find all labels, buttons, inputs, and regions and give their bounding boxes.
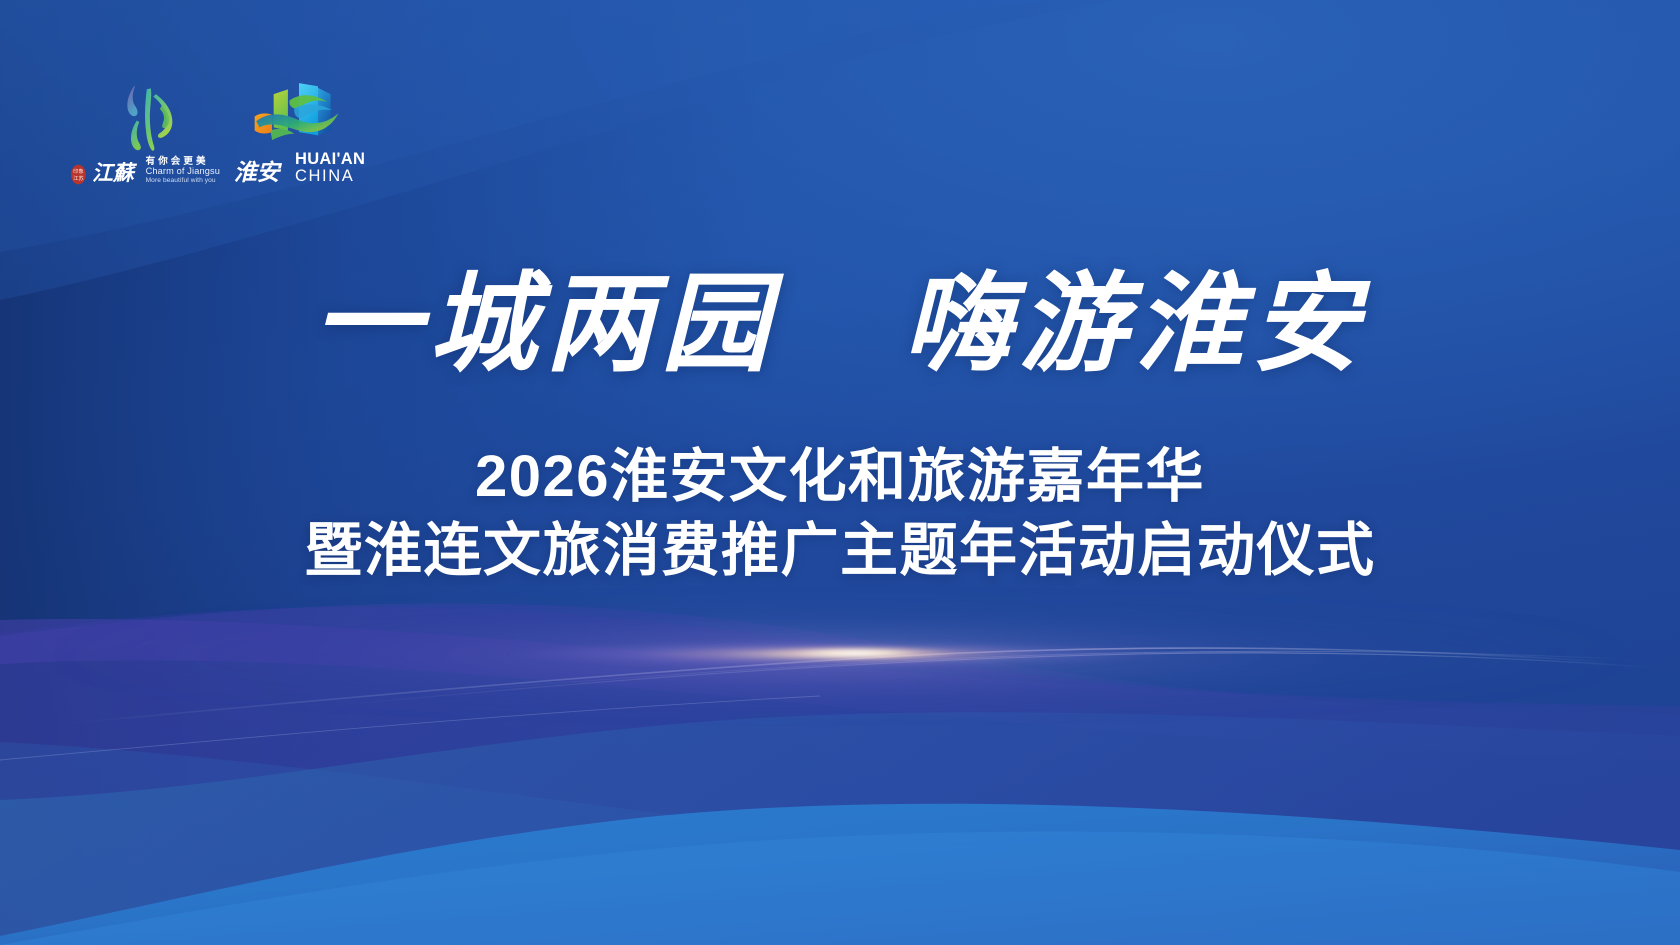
huaian-en-top: HUAI'AN [295, 151, 365, 168]
jiangsu-tagline-en: Charm of Jiangsu [146, 167, 220, 177]
jiangsu-water-mark-icon [104, 81, 194, 155]
logo-bar: 印象 江苏 江蘇 有你会更美 Charm of Jiangsu More bea… [70, 72, 366, 185]
poster-canvas: 印象 江苏 江蘇 有你会更美 Charm of Jiangsu More bea… [0, 0, 1680, 945]
headline-part-2: 嗨游淮安 [903, 266, 1367, 385]
huaian-shui-mark-icon [242, 72, 345, 148]
headline: 一城两园 嗨游淮安 [0, 268, 1680, 385]
subtitle-line-1: 2026淮安文化和旅游嘉年华 [0, 440, 1680, 514]
jiangsu-wordmark: 印象 江苏 江蘇 有你会更美 Charm of Jiangsu More bea… [70, 157, 220, 185]
jiangsu-red-seal-icon: 印象 江苏 [70, 164, 87, 185]
jiangsu-logo: 印象 江苏 江蘇 有你会更美 Charm of Jiangsu More bea… [70, 81, 220, 185]
huaian-en-bottom: CHINA [295, 168, 365, 185]
subtitle-line-2: 暨淮连文旅消费推广主题年活动启动仪式 [0, 514, 1680, 588]
svg-text:淮安: 淮安 [234, 160, 283, 185]
huaian-logo: 淮安 HUAI'AN CHINA [234, 72, 366, 185]
svg-text:江蘇: 江蘇 [92, 161, 138, 185]
huaian-wordmark: 淮安 HUAI'AN CHINA [234, 151, 366, 185]
jiangsu-hanzi-calligraphy: 江蘇 [92, 161, 141, 185]
huaian-hanzi-calligraphy: 淮安 [234, 158, 288, 185]
jiangsu-tagline-en2: More beautiful with you [146, 177, 220, 184]
headline-part-1: 一城两园 [313, 266, 777, 385]
subtitle: 2026淮安文化和旅游嘉年华 暨淮连文旅消费推广主题年活动启动仪式 [0, 440, 1680, 588]
